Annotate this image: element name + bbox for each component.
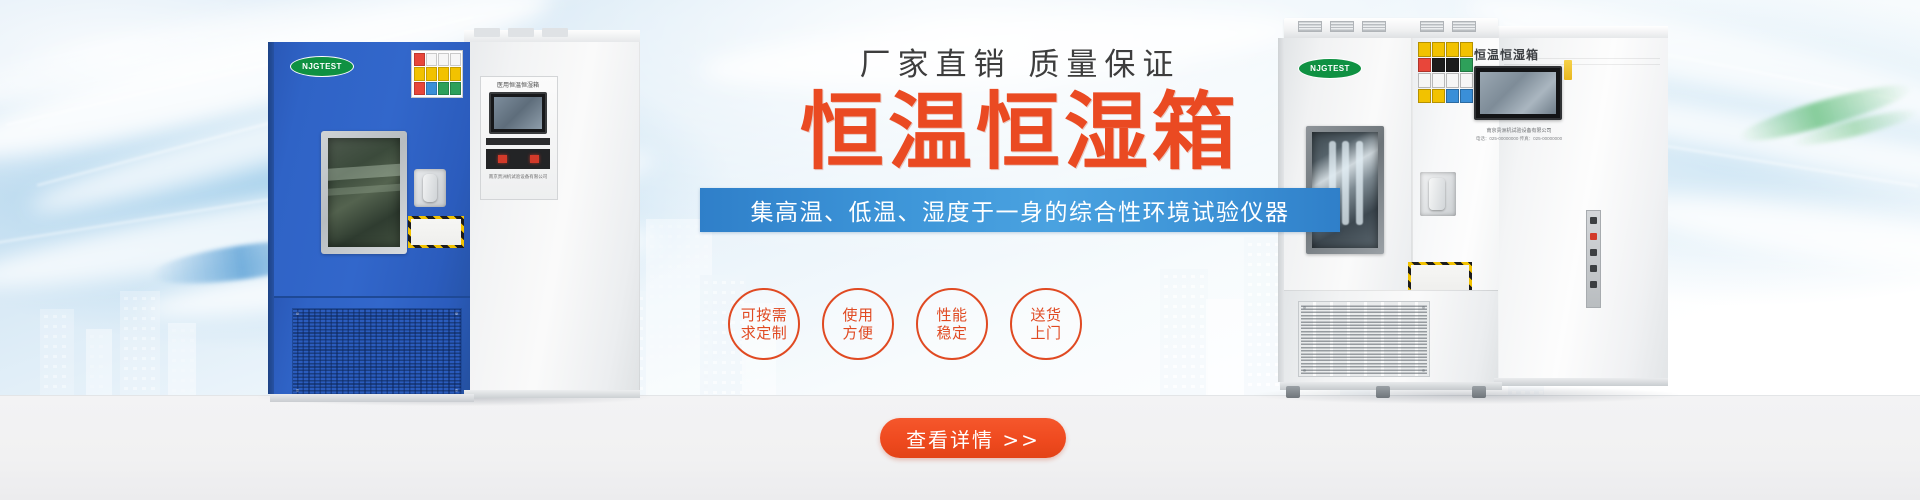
feature-badge-2[interactable]: 使用方便 <box>822 288 894 360</box>
panel-strip-left <box>486 138 550 145</box>
hmi-screen-right[interactable] <box>1474 66 1562 120</box>
banner-subtitle-bar: 集高温、低温、湿度于一身的综合性环境试验仪器 <box>700 188 1340 232</box>
feature-badge-line2: 上门 <box>1030 324 1061 342</box>
side-control-strip-right[interactable] <box>1586 210 1601 308</box>
caster-foot <box>1376 386 1390 398</box>
company-text-left: 南京贵洲机试验设备有限公司 <box>482 173 554 180</box>
product-left-side-base <box>464 390 640 398</box>
feature-badge-line1: 性能 <box>936 306 967 324</box>
caster-foot <box>1472 386 1486 398</box>
feature-badge-line1: 可按需 <box>741 306 788 324</box>
banner-kicker: 厂家直销 质量保证 <box>700 48 1340 82</box>
banner-copy-block: 厂家直销 质量保证 恒温恒湿箱 集高温、低温、湿度于一身的综合性环境试验仪器 <box>700 48 1340 232</box>
view-details-button[interactable]: 查看详情 >> <box>880 418 1066 458</box>
feature-badge-3[interactable]: 性能稳定 <box>916 288 988 360</box>
product-left-lower-section <box>274 296 470 396</box>
product-left-base <box>270 394 474 402</box>
hazard-plate-left <box>408 216 464 248</box>
control-panel-title-left: 医用恒温恒湿箱 <box>482 80 554 88</box>
ventilation-grille-left <box>292 308 462 396</box>
power-button-left[interactable] <box>518 149 550 169</box>
company-contact-right: 电话：025-00000000 传真：025-00000000 <box>1474 135 1564 142</box>
door-handle-right <box>1420 172 1456 216</box>
banner-headline: 恒温恒湿箱 <box>700 90 1340 174</box>
feature-badge-line2: 求定制 <box>741 324 788 342</box>
feature-badge-line1: 使用 <box>842 306 873 324</box>
feature-badge-1[interactable]: 可按需求定制 <box>728 288 800 360</box>
run-button-left[interactable] <box>486 149 518 169</box>
promo-banner: NJGTEST <box>0 0 1920 500</box>
brand-logo-left: NJGTEST <box>290 56 354 77</box>
viewing-window-left <box>321 131 407 254</box>
product-right-base <box>1280 382 1502 390</box>
hmi-screen-left[interactable] <box>489 92 547 134</box>
product-right-side-base <box>1494 378 1668 386</box>
product-right-panel-title: 恒温恒湿箱 <box>1474 46 1558 62</box>
product-image-left: NJGTEST <box>268 28 640 400</box>
panel-button-row-left[interactable] <box>486 149 550 169</box>
company-text-right: 南京贵洲机试验设备有限公司 <box>1474 126 1564 134</box>
feature-badge-line2: 方便 <box>842 324 873 342</box>
door-handle-left <box>414 169 446 207</box>
product-right-roof <box>1494 26 1668 38</box>
feature-badge-line2: 稳定 <box>936 324 967 342</box>
feature-badge-line1: 送货 <box>1030 306 1061 324</box>
warning-label-left <box>411 50 463 98</box>
feature-badge-4[interactable]: 送货上门 <box>1010 288 1082 360</box>
side-indicator-strip-right <box>1564 60 1572 80</box>
feature-badge-list: 可按需求定制使用方便性能稳定送货上门 <box>728 288 1328 360</box>
caster-foot <box>1286 386 1300 398</box>
warning-label-right <box>1418 42 1474 100</box>
